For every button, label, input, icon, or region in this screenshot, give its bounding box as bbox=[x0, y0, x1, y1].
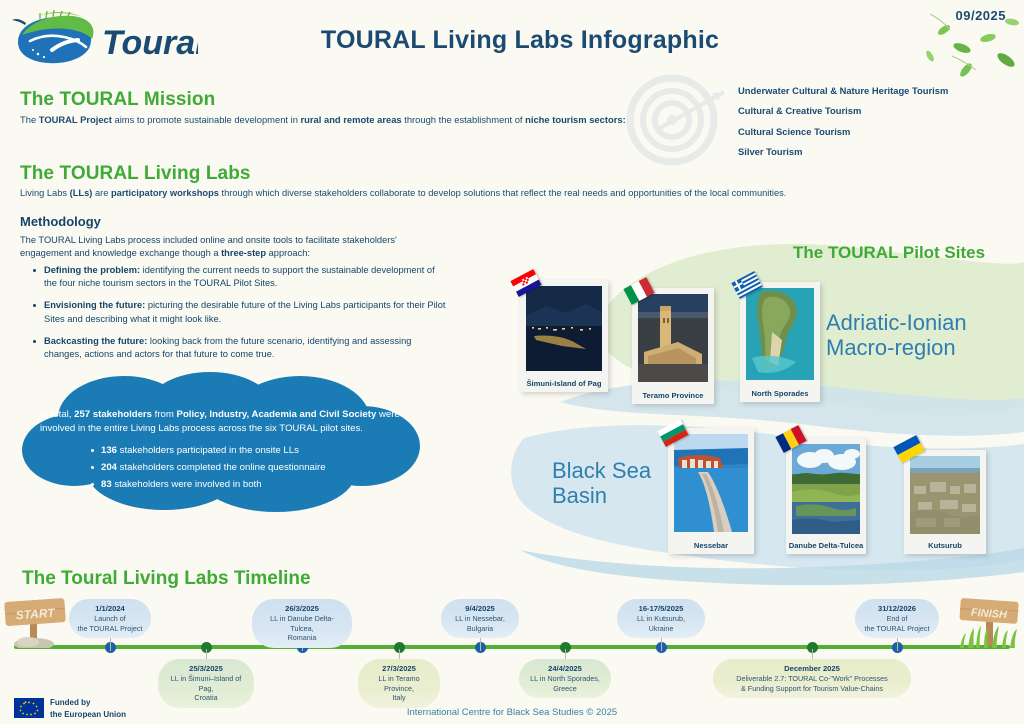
leaf-decoration bbox=[925, 14, 1020, 78]
methodology-step: Defining the problem: identifying the cu… bbox=[30, 264, 450, 290]
methodology-heading: Methodology bbox=[20, 214, 101, 229]
stakeholders-cloud: In total, 257 stakeholders from Policy, … bbox=[14, 372, 434, 514]
timeline-heading: The Toural Living Labs Timeline bbox=[22, 568, 311, 590]
pilot-site-photo bbox=[792, 444, 860, 534]
region-line-2: Basin bbox=[552, 483, 651, 508]
region-label-adriatic-ionian: Adriatic-Ionian Macro-region bbox=[826, 310, 967, 361]
footer-credit: International Centre for Black Sea Studi… bbox=[0, 707, 1024, 718]
pilot-site-caption: Teramo Province bbox=[632, 391, 714, 400]
issue-date: 09/2025 bbox=[956, 8, 1007, 23]
sector-item: Silver Tourism bbox=[738, 147, 1018, 156]
timeline-start-sign: START bbox=[2, 596, 70, 648]
niche-tourism-sectors-list: Underwater Cultural & Nature Heritage To… bbox=[738, 86, 1018, 168]
region-line-1: Black Sea bbox=[552, 458, 651, 483]
pilot-site-card[interactable]: Kutsurub bbox=[904, 450, 986, 554]
methodology-steps: Defining the problem: identifying the cu… bbox=[30, 264, 450, 370]
pilot-site-photo bbox=[674, 434, 748, 532]
cloud-bullet: 204 stakeholders completed the online qu… bbox=[90, 461, 408, 475]
timeline-event-card[interactable]: 27/3/2025LL in Teramo Province,Italy bbox=[358, 659, 440, 708]
pilot-site-caption: Šimuni-Island of Pag bbox=[520, 379, 608, 388]
timeline-event-label: LL in Kutsurub,Ukraine bbox=[625, 614, 697, 633]
mission-heading: The TOURAL Mission bbox=[20, 89, 215, 111]
toural-logo[interactable]: Toural bbox=[8, 8, 198, 70]
timeline-event-date: 9/4/2025 bbox=[449, 604, 511, 613]
pilot-site-photo bbox=[910, 456, 980, 534]
infographic-page: Toural TOURAL Living Labs Infographic 09… bbox=[0, 0, 1024, 724]
pilot-site-photo bbox=[638, 294, 708, 382]
timeline-event-card[interactable]: 9/4/2025LL in Nessebar,Bulgaria bbox=[441, 599, 519, 638]
timeline-event-label: End ofthe TOURAL Project bbox=[863, 614, 931, 633]
pilot-site-card[interactable]: Nessebar bbox=[668, 428, 754, 554]
timeline-event-card[interactable]: December 2025Deliverable 2.7: TOURAL Co-… bbox=[713, 659, 911, 698]
pilot-site-photo bbox=[746, 288, 814, 380]
living-labs-heading: The TOURAL Living Labs bbox=[20, 163, 251, 185]
pilot-site-card[interactable]: Teramo Province bbox=[632, 288, 714, 404]
timeline-event-label: LL in Nessebar,Bulgaria bbox=[449, 614, 511, 633]
pilot-site-card[interactable]: Šimuni-Island of Pag bbox=[520, 280, 608, 392]
living-labs-text: Living Labs (LLs) are participatory work… bbox=[20, 188, 1010, 198]
svg-text:Toural: Toural bbox=[102, 24, 198, 62]
timeline-event-label: LL in Šimuni–Island of Pag,Croatia bbox=[166, 674, 246, 702]
sector-item: Underwater Cultural & Nature Heritage To… bbox=[738, 86, 1018, 95]
timeline-event-label: LL in Danube Delta-Tulcea,Romania bbox=[260, 614, 344, 642]
timeline-event-date: December 2025 bbox=[721, 664, 903, 673]
timeline-event-card[interactable]: 24/4/2025LL in North Sporades,Greece bbox=[519, 659, 611, 698]
pilot-site-caption: Danube Delta-Tulcea bbox=[786, 541, 866, 550]
pilot-site-card[interactable]: North Sporades bbox=[740, 282, 820, 402]
timeline-finish-sign: FINISH bbox=[956, 596, 1024, 650]
pilot-site-caption: Kutsurub bbox=[904, 541, 986, 550]
pilot-sites-heading: The TOURAL Pilot Sites bbox=[793, 243, 985, 263]
mission-text: The TOURAL Project aims to promote susta… bbox=[20, 114, 730, 127]
pilot-site-card[interactable]: Danube Delta-Tulcea bbox=[786, 438, 866, 554]
timeline-event-date: 16-17/5/2025 bbox=[625, 604, 697, 613]
region-label-black-sea-basin: Black Sea Basin bbox=[552, 458, 651, 509]
timeline-event-card[interactable]: 16-17/5/2025LL in Kutsurub,Ukraine bbox=[617, 599, 705, 638]
toural-leaf-logo: Toural bbox=[8, 8, 198, 70]
timeline-event-date: 25/3/2025 bbox=[166, 664, 246, 673]
timeline-event-card[interactable]: 26/3/2025LL in Danube Delta-Tulcea,Roman… bbox=[252, 599, 352, 648]
pilot-site-caption: North Sporades bbox=[740, 389, 820, 398]
cloud-text: In total, 257 stakeholders from Policy, … bbox=[40, 408, 408, 495]
cloud-bullet: 83 stakeholders were involved in both bbox=[90, 478, 408, 492]
methodology-step: Envisioning the future: picturing the de… bbox=[30, 299, 450, 325]
timeline-axis bbox=[14, 645, 1010, 649]
start-label: START bbox=[15, 606, 56, 623]
timeline-event-card[interactable]: 25/3/2025LL in Šimuni–Island of Pag,Croa… bbox=[158, 659, 254, 708]
timeline-event-card[interactable]: 1/1/2024Launch ofthe TOURAL Project bbox=[69, 599, 151, 638]
timeline-event-label: Launch ofthe TOURAL Project bbox=[77, 614, 143, 633]
cloud-bullets: 136 stakeholders participated in the ons… bbox=[40, 444, 408, 492]
methodology-step: Backcasting the future: looking back fro… bbox=[30, 335, 450, 361]
pilot-site-photo bbox=[526, 286, 602, 371]
sector-item: Cultural Science Tourism bbox=[738, 127, 1018, 136]
region-line-1: Adriatic-Ionian bbox=[826, 310, 967, 335]
sector-item: Cultural & Creative Tourism bbox=[738, 106, 1018, 115]
page-title: TOURAL Living Labs Infographic bbox=[250, 26, 790, 55]
cloud-intro: In total, 257 stakeholders from Policy, … bbox=[40, 408, 408, 436]
timeline-event-date: 31/12/2026 bbox=[863, 604, 931, 613]
region-line-2: Macro-region bbox=[826, 335, 967, 360]
pilot-site-caption: Nessebar bbox=[668, 541, 754, 550]
timeline-event-card[interactable]: 31/12/2026End ofthe TOURAL Project bbox=[855, 599, 939, 638]
timeline-event-label: Deliverable 2.7: TOURAL Co-"Work" Proces… bbox=[721, 674, 903, 693]
timeline-event-date: 24/4/2025 bbox=[527, 664, 603, 673]
timeline-event-date: 27/3/2025 bbox=[366, 664, 432, 673]
methodology-intro: The TOURAL Living Labs process included … bbox=[20, 234, 420, 260]
timeline-event-date: 26/3/2025 bbox=[260, 604, 344, 613]
timeline-event-label: LL in North Sporades,Greece bbox=[527, 674, 603, 693]
timeline-event-label: LL in Teramo Province,Italy bbox=[366, 674, 432, 702]
timeline-event-date: 1/1/2024 bbox=[77, 604, 143, 613]
cloud-bullet: 136 stakeholders participated in the ons… bbox=[90, 444, 408, 458]
